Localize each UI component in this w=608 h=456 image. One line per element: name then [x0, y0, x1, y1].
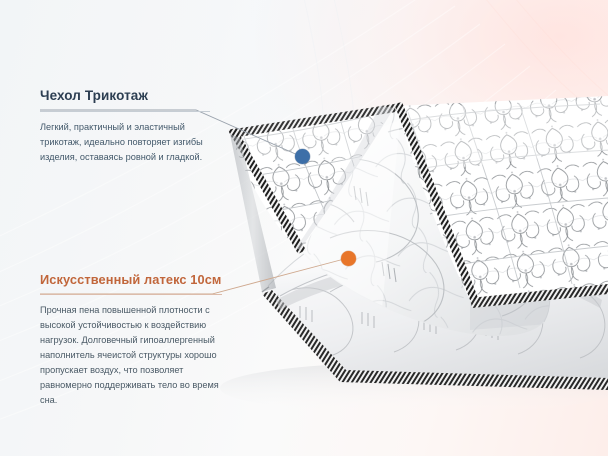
product-feature-diagram: Чехол Трикотаж Легкий, практичный и элас… — [0, 0, 608, 456]
callout-latex-body: Прочная пена повышенной плотности с высо… — [40, 303, 222, 407]
callout-latex-rule — [40, 294, 222, 295]
blue-dot-marker[interactable] — [295, 149, 310, 164]
callout-cover-rule — [40, 111, 210, 112]
callout-cover-body: Легкий, практичный и эластичный трикотаж… — [40, 120, 210, 165]
callout-cover: Чехол Трикотаж Легкий, практичный и элас… — [40, 88, 210, 165]
callout-cover-title: Чехол Трикотаж — [40, 88, 210, 104]
orange-dot-marker[interactable] — [341, 251, 356, 266]
callout-latex: Искусственный латекс 10см Прочная пена п… — [40, 272, 222, 408]
callout-latex-title: Искусственный латекс 10см — [40, 272, 222, 287]
